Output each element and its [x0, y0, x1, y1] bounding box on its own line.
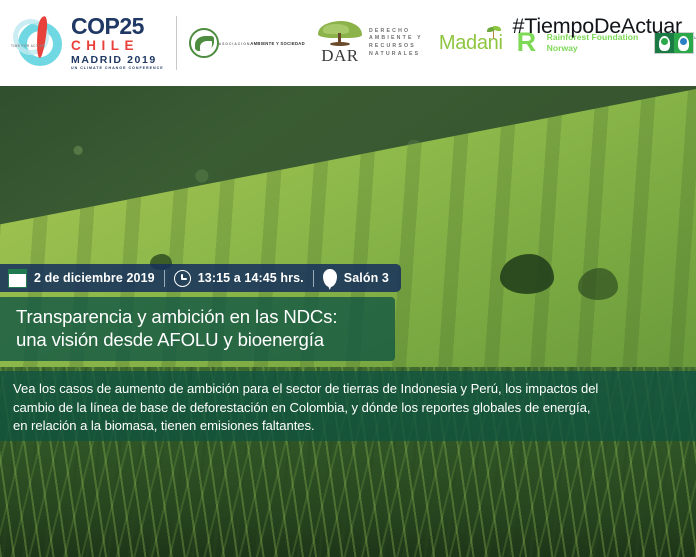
- clock-minute-hand-icon: [182, 278, 187, 280]
- info-time: 13:15 a 14:45 hrs.: [174, 270, 304, 287]
- aas-line1: ASOCIACION: [219, 42, 251, 46]
- dar-word-2: AMBIENTE Y: [369, 35, 423, 43]
- event-poster: TIME FOR ACTION COP25 CHILE MADRID 2019 …: [0, 0, 696, 557]
- logo-divider: [176, 16, 177, 70]
- cop25-wordmark: COP25 CHILE MADRID 2019 UN CLIMATE CHANG…: [71, 15, 164, 71]
- event-title-line-1: Transparencia y ambición en las NDCs:: [16, 305, 379, 328]
- calendar-header-icon: [8, 269, 27, 274]
- logo-dar: DAR DERECHO AMBIENTE Y RECURSOS NATURALE…: [317, 21, 423, 66]
- foreground-tree: [500, 254, 554, 294]
- event-description-line-1: Vea los casos de aumento de ambición par…: [13, 380, 680, 399]
- cop25-subtitle: UN CLIMATE CHANGE CONFERENCE: [71, 67, 164, 71]
- event-title-banner: Transparencia y ambición en las NDCs: un…: [0, 297, 395, 361]
- clock-icon: [174, 270, 191, 287]
- location-pin-icon: [323, 269, 337, 287]
- cop25-title: COP25: [71, 15, 164, 38]
- dar-word-1: DERECHO: [369, 28, 423, 36]
- event-time-text: 13:15 a 14:45 hrs.: [198, 271, 304, 285]
- logo-asociacion-ambiente-y-sociedad: ASOCIACION AMBIENTE Y SOCIEDAD: [189, 28, 305, 58]
- dar-word-3: RECURSOS: [369, 43, 423, 51]
- info-date: 2 de diciembre 2019: [8, 269, 155, 288]
- sprout-icon: [487, 26, 501, 39]
- dar-acronym: DAR: [317, 46, 363, 66]
- leaf-circle-icon: [189, 28, 219, 58]
- cop25-tagline: TIME FOR ACTION: [11, 44, 45, 48]
- dar-wordmark: DERECHO AMBIENTE Y RECURSOS NATURALES: [369, 28, 423, 58]
- logo-madani: Madani: [439, 32, 503, 55]
- event-hashtag: #TiempoDeActuar: [513, 14, 682, 39]
- dar-word-4: NATURALES: [369, 51, 423, 59]
- foreground-tree: [578, 268, 618, 300]
- cop25-emblem-icon: TIME FOR ACTION: [10, 14, 68, 72]
- calendar-icon: [8, 269, 27, 288]
- aas-line2: AMBIENTE Y SOCIEDAD: [250, 41, 305, 46]
- info-room: Salón 3: [323, 269, 389, 287]
- tree-icon: [317, 21, 363, 47]
- event-description-line-3: en relación a la biomasa, tienen emision…: [13, 417, 680, 436]
- tree-canopy-highlight-icon: [323, 24, 349, 34]
- event-date-text: 2 de diciembre 2019: [34, 271, 155, 285]
- event-room-text: Salón 3: [344, 271, 389, 285]
- cop25-place: MADRID 2019: [71, 55, 164, 66]
- event-description-banner: Vea los casos de aumento de ambición par…: [0, 371, 696, 441]
- leaf-cut-icon: [200, 41, 212, 51]
- info-separator: [313, 270, 314, 287]
- rfn-line2: Norway: [547, 43, 639, 54]
- sponsor-logo-strip: TIME FOR ACTION COP25 CHILE MADRID 2019 …: [0, 0, 696, 86]
- event-title-line-2: una visión desde AFOLU y bioenergía: [16, 328, 379, 351]
- event-description-line-2: cambio de la línea de base de deforestac…: [13, 399, 680, 418]
- event-info-bar: 2 de diciembre 2019 13:15 a 14:45 hrs. S…: [0, 264, 401, 292]
- cop25-country: CHILE: [71, 39, 164, 53]
- dar-mark: DAR: [317, 21, 363, 66]
- tree-ground-icon: [330, 42, 350, 46]
- sprout-leaf-right-icon: [493, 26, 501, 31]
- logo-cop25: TIME FOR ACTION COP25 CHILE MADRID 2019 …: [10, 14, 164, 72]
- info-separator: [164, 270, 165, 287]
